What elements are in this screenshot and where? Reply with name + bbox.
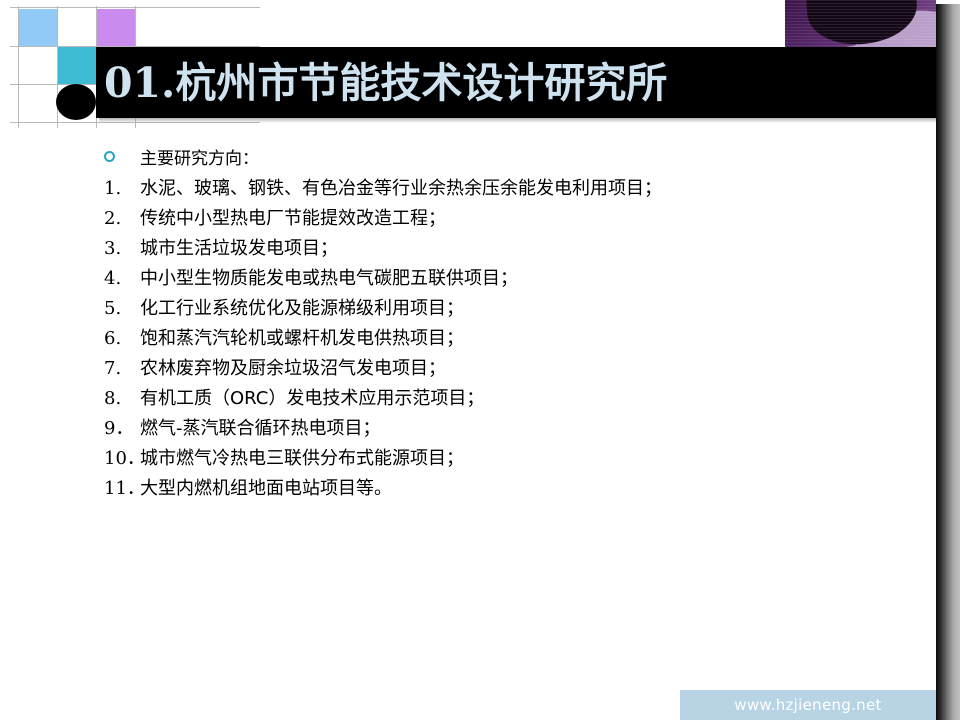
- slide-right-edge-shadow: [936, 0, 960, 720]
- list-item-number: 6.: [104, 328, 140, 349]
- list-item-number: 2.: [104, 208, 140, 229]
- list-item: 7. 农林废弃物及厨余垃圾沼气发电项目；: [104, 354, 904, 384]
- list-item: 9． 燃气-蒸汽联合循环热电项目；: [104, 414, 904, 444]
- lead-label: 主要研究方向：: [140, 144, 259, 169]
- list-item: 10． 城市燃气冷热电三联供分布式能源项目；: [104, 444, 904, 474]
- ring-bullet-icon: [104, 151, 115, 162]
- list-item-text: 化工行业系统优化及能源梯级利用项目；: [140, 294, 464, 320]
- list-item: 2. 传统中小型热电厂节能提效改造工程；: [104, 204, 904, 234]
- list-item-number: 9．: [104, 414, 140, 440]
- list-item-text: 水泥、玻璃、钢铁、有色冶金等行业余热余压余能发电利用项目；: [140, 174, 662, 200]
- list-item-number: 8.: [104, 388, 140, 409]
- list-item: 4. 中小型生物质能发电或热电气碳肥五联供项目；: [104, 264, 904, 294]
- list-item-number: 4.: [104, 268, 140, 289]
- list-item-number: 10．: [104, 444, 140, 470]
- lead-row: 主要研究方向：: [104, 142, 904, 170]
- title-banner-shadow: [99, 118, 939, 123]
- list-item-number: 5.: [104, 298, 140, 319]
- slide-content: 主要研究方向： 1. 水泥、玻璃、钢铁、有色冶金等行业余热余压余能发电利用项目；…: [104, 142, 904, 504]
- list-item: 11． 大型内燃机组地面电站项目等。: [104, 474, 904, 504]
- presentation-slide: 01.杭州市节能技术设计研究所 主要研究方向： 1. 水泥、玻璃、钢铁、有色冶金…: [0, 0, 960, 720]
- list-item: 3. 城市生活垃圾发电项目；: [104, 234, 904, 264]
- list-item-number: 3.: [104, 238, 140, 259]
- decor-square-violet: [97, 9, 135, 46]
- list-item-text: 农林废弃物及厨余垃圾沼气发电项目；: [140, 354, 446, 380]
- list-item-text: 有机工质（ORC）发电技术应用示范项目；: [140, 384, 484, 410]
- list-item-text: 传统中小型热电厂节能提效改造工程；: [140, 204, 446, 230]
- list-item-text: 城市生活垃圾发电项目；: [140, 234, 338, 260]
- decor-ellipse-black: [56, 84, 96, 120]
- list-item: 8. 有机工质（ORC）发电技术应用示范项目；: [104, 384, 904, 414]
- decor-square-lightblue: [19, 9, 57, 46]
- slide-title: 01.杭州市节能技术设计研究所: [104, 52, 667, 114]
- list-item: 6. 饱和蒸汽汽轮机或螺杆机发电供热项目；: [104, 324, 904, 354]
- list-item-number: 7.: [104, 358, 140, 379]
- footer-url-text: www.hzjieneng.net: [680, 690, 936, 720]
- list-item: 5. 化工行业系统优化及能源梯级利用项目；: [104, 294, 904, 324]
- list-item: 1. 水泥、玻璃、钢铁、有色冶金等行业余热余压余能发电利用项目；: [104, 174, 904, 204]
- list-item-text: 燃气-蒸汽联合循环热电项目；: [140, 414, 381, 440]
- decor-square-teal: [58, 47, 96, 84]
- list-item-number: 11．: [104, 474, 140, 500]
- list-item-text: 饱和蒸汽汽轮机或螺杆机发电供热项目；: [140, 324, 464, 350]
- footer-url-bar: www.hzjieneng.net: [680, 690, 936, 720]
- list-item-text: 大型内燃机组地面电站项目等。: [140, 474, 392, 500]
- list-item-text: 城市燃气冷热电三联供分布式能源项目；: [140, 444, 464, 470]
- list-item-number: 1.: [104, 178, 140, 199]
- slide-right-edge-top-gap: [936, 0, 960, 4]
- list-item-text: 中小型生物质能发电或热电气碳肥五联供项目；: [140, 264, 518, 290]
